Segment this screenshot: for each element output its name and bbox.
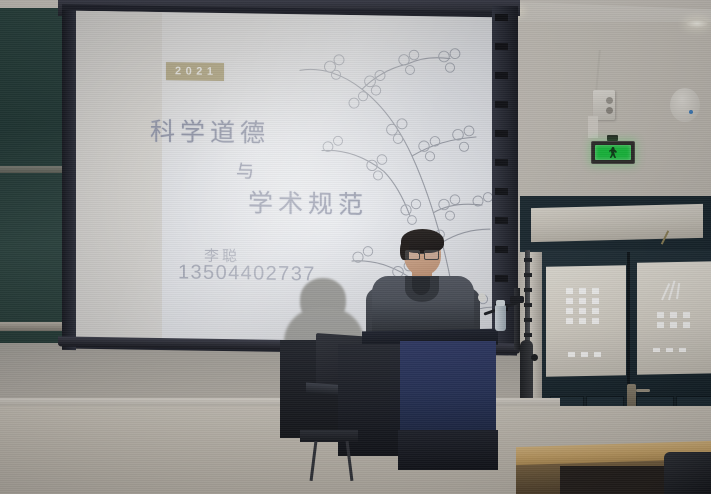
transom-window	[531, 204, 703, 242]
slide-year-badge: 2021	[166, 62, 224, 81]
foreground-chair-back	[664, 452, 711, 494]
exit-sign	[591, 141, 635, 164]
slide-title-line-2: 与	[236, 157, 259, 183]
slide-title-line-1: 科学道德	[150, 112, 270, 150]
speaker-bracket	[588, 116, 598, 138]
exit-sign-panel	[595, 145, 631, 160]
lecture-hall-photo: 2021 科学道德 与 学术规范 李聪 13504402737	[0, 0, 711, 494]
screen-edge-clips	[495, 14, 508, 344]
door-lever-icon[interactable]	[636, 389, 650, 392]
water-bottle-cap	[496, 300, 505, 306]
presenter-collar-inner	[412, 277, 430, 295]
lectern-base	[398, 430, 498, 470]
chalkboard-chalk-rail	[0, 322, 64, 331]
lectern-front: JILIN UNIVERSITY CHINA 吉林大学	[400, 341, 496, 433]
slide-title-line-3: 学术规范	[248, 183, 368, 221]
screen-rail-clips	[524, 258, 532, 338]
running-person-icon	[609, 147, 618, 158]
slide-left-panel	[76, 11, 162, 342]
screen-left-edge	[62, 10, 76, 350]
ceiling-downlight-icon	[686, 19, 708, 28]
door-notice-left-footer	[568, 352, 601, 357]
slide-presenter-phone: 13504402737	[178, 261, 316, 286]
chair-seat	[300, 430, 358, 442]
door-notice-left	[566, 288, 599, 324]
presenter-glasses-icon	[404, 250, 440, 259]
conduit-knob	[531, 354, 538, 361]
motion-sensor-icon	[670, 88, 700, 122]
water-bottle	[495, 305, 506, 331]
chalkboard-divider	[0, 166, 70, 173]
door-notice-right-footer	[653, 348, 686, 352]
door-notice-right	[657, 312, 690, 328]
microphone-icon	[478, 293, 486, 302]
